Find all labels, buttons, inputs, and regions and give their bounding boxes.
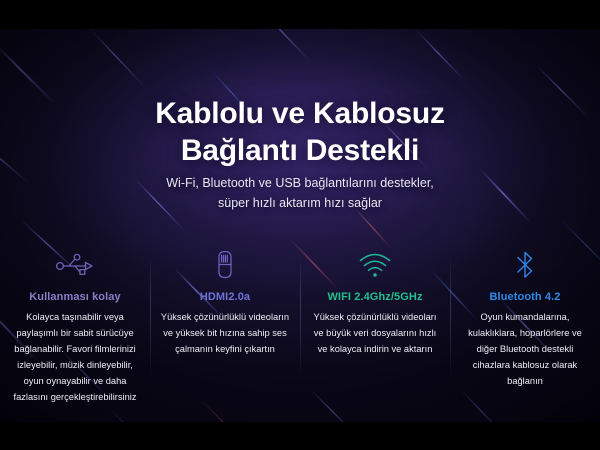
feature-item-bluetooth: Bluetooth 4.2 Oyun kumandalarına, kulakl… (450, 245, 600, 390)
subtitle-line-1: Wi-Fi, Bluetooth ve USB bağlantılarını d… (166, 176, 434, 190)
feature-title-wifi: WIFI 2.4Ghz/5GHz (309, 291, 441, 303)
feature-title-hdmi: HDMI2.0a (159, 291, 291, 303)
banner-subtitle: Wi-Fi, Bluetooth ve USB bağlantılarını d… (0, 173, 600, 214)
feature-description-usb: Kolayca taşınabilir veya paylaşımlı bir … (9, 310, 141, 406)
feature-title-usb: Kullanması kolay (9, 291, 141, 303)
usb-icon (9, 245, 141, 285)
feature-item-wifi: WIFI 2.4Ghz/5GHz Yüksek çözünürlüklü vid… (300, 245, 450, 358)
feature-item-hdmi: HDMI2.0a Yüksek çözünürlüklü videoların … (150, 245, 300, 358)
feature-item-usb: Kullanması kolay Kolayca taşınabilir vey… (0, 245, 150, 406)
hdmi-connector-icon (159, 245, 291, 285)
feature-description-wifi: Yüksek çözünürlüklü videoları ve büyük v… (309, 310, 441, 358)
feature-list: Kullanması kolay Kolayca taşınabilir vey… (0, 245, 600, 406)
bluetooth-icon (459, 245, 591, 285)
subtitle-line-2: süper hızlı aktarım hızı sağlar (0, 193, 600, 213)
wifi-icon (309, 245, 441, 285)
feature-description-bluetooth: Oyun kumandalarına, kulaklıklara, hoparl… (459, 310, 591, 390)
feature-description-hdmi: Yüksek çözünürlüklü videoların ve yüksek… (159, 310, 291, 358)
headline-line-2: Bağlantı Destekli (0, 133, 600, 170)
feature-title-bluetooth: Bluetooth 4.2 (459, 291, 591, 303)
screenshot-frame: Kablolu ve Kablosuz Bağlantı Destekli Wi… (0, 0, 600, 450)
banner-headline: Kablolu ve Kablosuz Bağlantı Destekli (0, 96, 600, 169)
promo-banner: Kablolu ve Kablosuz Bağlantı Destekli Wi… (0, 29, 600, 422)
headline-line-1: Kablolu ve Kablosuz (155, 97, 445, 130)
